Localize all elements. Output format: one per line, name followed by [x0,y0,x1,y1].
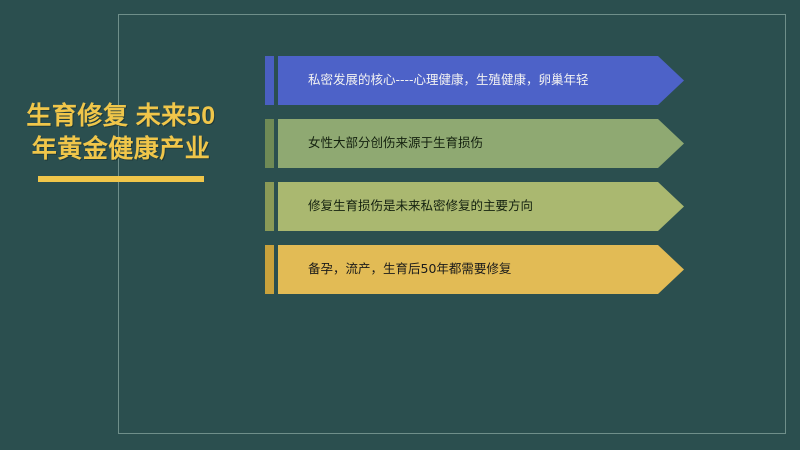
bar-cap [265,119,274,168]
bar-label: 私密发展的核心----心理健康，生殖健康，卵巢年轻 [278,72,589,88]
bar-label: 备孕，流产，生育后50年都需要修复 [278,261,511,277]
list-item[interactable]: 女性大部分创伤来源于生育损伤 [265,119,685,168]
page-title: 生育修复 未来50年黄金健康产业 [16,100,226,166]
arrow-bar[interactable]: 私密发展的核心----心理健康，生殖健康，卵巢年轻 [278,56,684,105]
list-item[interactable]: 私密发展的核心----心理健康，生殖健康，卵巢年轻 [265,56,685,105]
arrow-bar[interactable]: 女性大部分创伤来源于生育损伤 [278,119,684,168]
list-item[interactable]: 备孕，流产，生育后50年都需要修复 [265,245,685,294]
title-underline [38,176,204,182]
list-item[interactable]: 修复生育损伤是未来私密修复的主要方向 [265,182,685,231]
slide-canvas: 生育修复 未来50年黄金健康产业 私密发展的核心----心理健康，生殖健康，卵巢… [0,0,800,450]
bar-label: 修复生育损伤是未来私密修复的主要方向 [278,198,533,214]
bar-label: 女性大部分创伤来源于生育损伤 [278,135,483,151]
arrow-bar[interactable]: 备孕，流产，生育后50年都需要修复 [278,245,684,294]
title-block: 生育修复 未来50年黄金健康产业 [16,100,226,182]
bar-cap [265,245,274,294]
bar-cap [265,56,274,105]
arrow-bar-list: 私密发展的核心----心理健康，生殖健康，卵巢年轻 女性大部分创伤来源于生育损伤… [265,56,685,308]
bar-cap [265,182,274,231]
arrow-bar[interactable]: 修复生育损伤是未来私密修复的主要方向 [278,182,684,231]
